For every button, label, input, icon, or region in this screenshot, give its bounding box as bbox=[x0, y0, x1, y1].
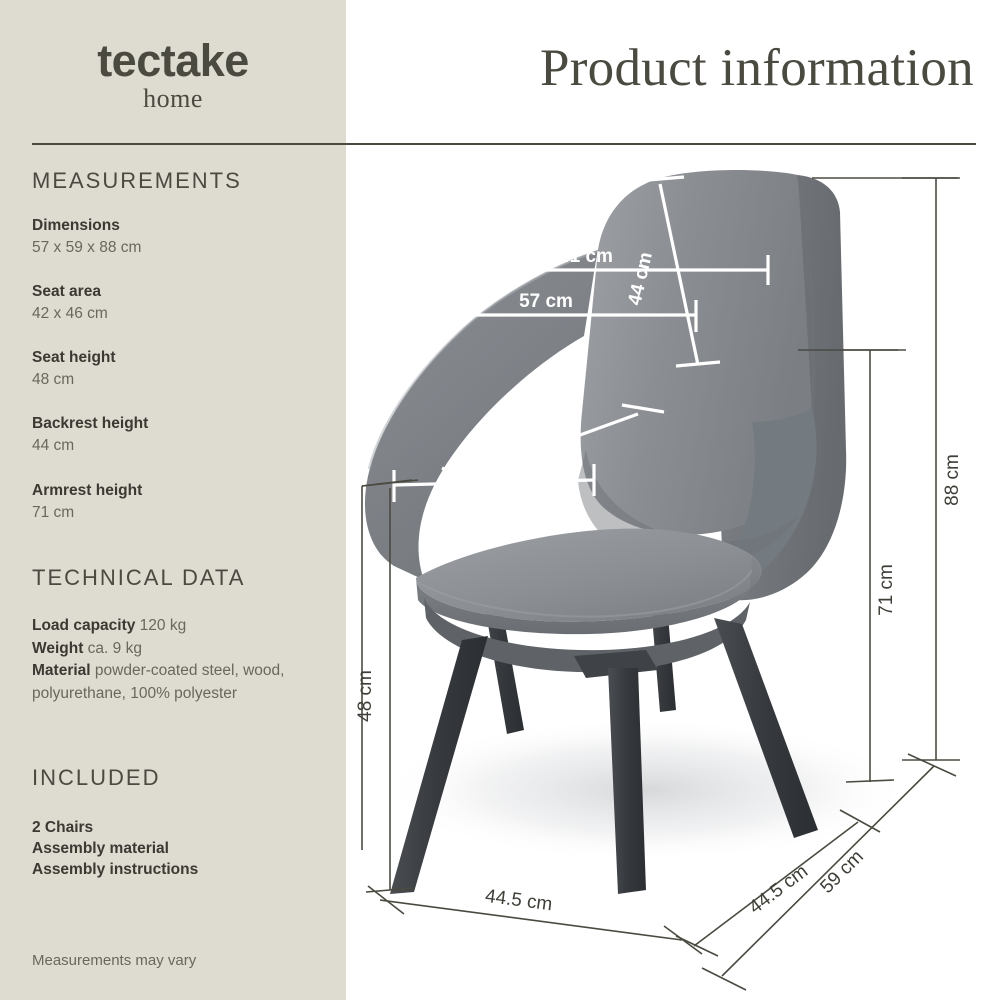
measurement-item-seat-height: Seat height 48 cm bbox=[32, 347, 322, 391]
dim-tick-59-far bbox=[908, 754, 956, 776]
included-item: 2 Chairs bbox=[32, 817, 322, 838]
technical-data-list: Load capacity 120 kg Weight ca. 9 kg Mat… bbox=[32, 615, 322, 705]
measurement-value: 48 cm bbox=[32, 369, 322, 391]
measurement-item-backrest-height: Backrest height 44 cm bbox=[32, 413, 322, 457]
dim-label-42: 42 cm bbox=[467, 461, 521, 482]
measurement-label: Seat height bbox=[32, 347, 322, 369]
technical-data-row: Load capacity 120 kg bbox=[32, 615, 322, 638]
measurement-value: 57 x 59 x 88 cm bbox=[32, 237, 322, 259]
measurement-value: 44 cm bbox=[32, 435, 322, 457]
dim-label-base-front: 44.5 cm bbox=[484, 886, 554, 916]
included-item: Assembly instructions bbox=[32, 859, 322, 880]
dim-tick-base-side-near bbox=[676, 936, 718, 956]
measurement-item-seat-area: Seat area 42 x 46 cm bbox=[32, 281, 322, 325]
dim-label-41: 41 cm bbox=[559, 246, 613, 267]
measurement-item-dimensions: Dimensions 57 x 59 x 88 cm bbox=[32, 215, 322, 259]
included-item: Assembly material bbox=[32, 838, 322, 859]
chair-illustration: 44 cm 41 cm 57 cm 46 cm 42 cm bbox=[346, 150, 1000, 1000]
product-information-page: tectake home MEASUREMENTS Dimensions 57 … bbox=[0, 0, 1000, 1000]
measurement-label: Backrest height bbox=[32, 413, 322, 435]
brand-name: tectake bbox=[0, 38, 346, 83]
technical-data-label: Load capacity bbox=[32, 617, 135, 634]
brand-sub-name: home bbox=[0, 86, 346, 112]
footnote-measurements-vary: Measurements may vary bbox=[32, 952, 196, 969]
dim-label-71: 71 cm bbox=[876, 564, 897, 616]
measurement-value: 42 x 46 cm bbox=[32, 303, 322, 325]
included-list: 2 Chairs Assembly material Assembly inst… bbox=[32, 817, 322, 880]
dim-label-48: 48 cm bbox=[355, 670, 376, 722]
section-heading-technical-data: TECHNICAL DATA bbox=[32, 565, 245, 591]
technical-data-value: ca. 9 kg bbox=[83, 640, 142, 657]
sidebar: tectake home MEASUREMENTS Dimensions 57 … bbox=[0, 0, 346, 1000]
technical-data-label: Weight bbox=[32, 640, 83, 657]
technical-data-value: 120 kg bbox=[135, 617, 186, 634]
measurement-label: Dimensions bbox=[32, 215, 322, 237]
technical-data-row: Material powder-coated steel, wood, poly… bbox=[32, 660, 322, 705]
brand-logo: tectake home bbox=[0, 38, 346, 112]
measurement-value: 71 cm bbox=[32, 502, 322, 524]
dim-label-base-side: 44.5 cm bbox=[745, 861, 812, 918]
section-heading-included: INCLUDED bbox=[32, 765, 160, 791]
dim-label-46: 46 cm bbox=[511, 414, 569, 451]
section-heading-measurements: MEASUREMENTS bbox=[32, 168, 242, 194]
measurement-label: Seat area bbox=[32, 281, 322, 303]
page-title: Product information bbox=[540, 38, 974, 98]
dim-tick-59-near bbox=[702, 968, 746, 990]
dim-label-57: 57 cm bbox=[519, 291, 573, 312]
header-divider bbox=[32, 143, 976, 145]
technical-data-row: Weight ca. 9 kg bbox=[32, 638, 322, 661]
dim-label-88: 88 cm bbox=[942, 454, 963, 506]
technical-data-label: Material bbox=[32, 662, 91, 679]
measurement-item-armrest-height: Armrest height 71 cm bbox=[32, 480, 322, 524]
measurement-label: Armrest height bbox=[32, 480, 322, 502]
dim-label-59: 59 cm bbox=[816, 846, 867, 897]
floor-shadow bbox=[381, 718, 911, 862]
